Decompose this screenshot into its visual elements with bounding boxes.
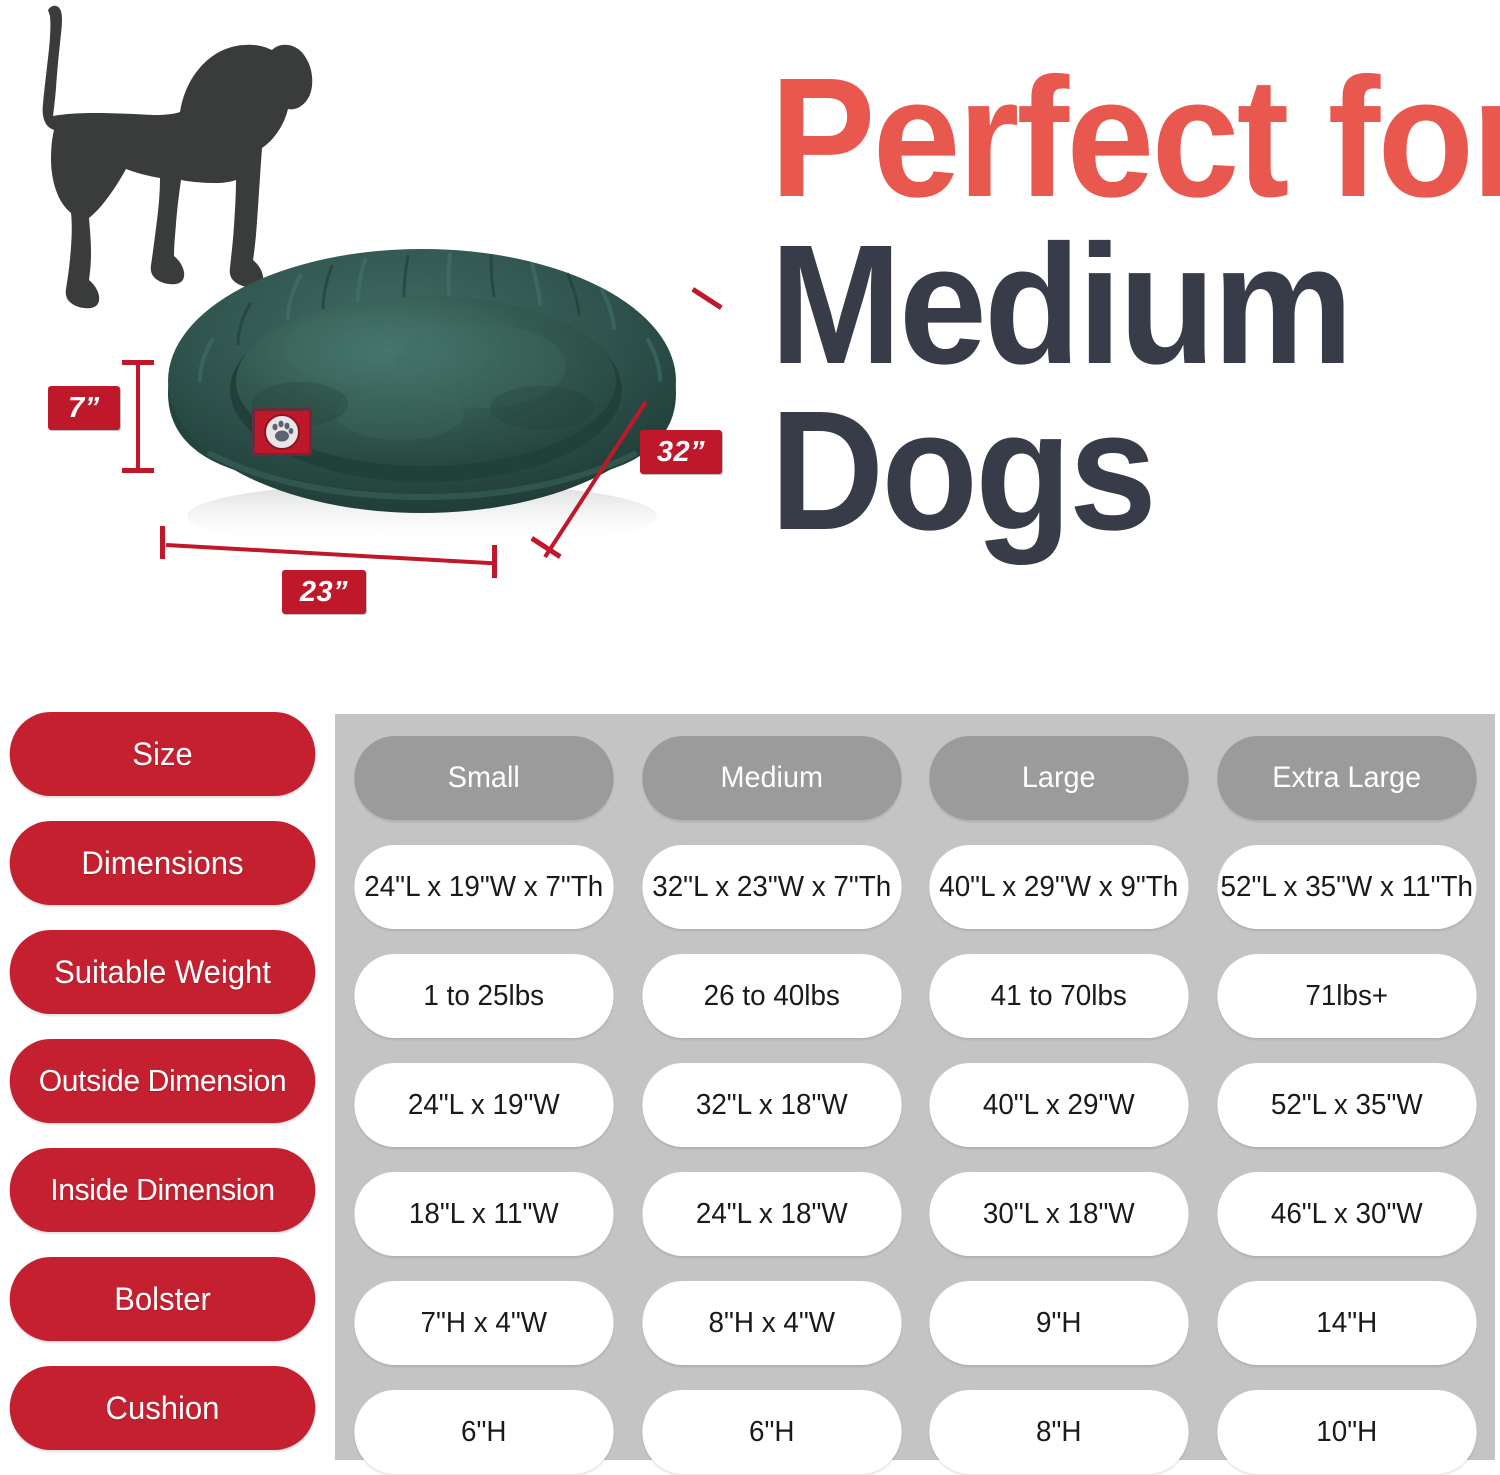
cell-inside-dimension-large: 30"L x 18"W — [929, 1172, 1188, 1256]
cell-bolster-small: 7"H x 4"W — [354, 1281, 613, 1365]
cell-cushion-extra-large: 10"H — [1217, 1390, 1476, 1474]
dimension-line-height — [136, 360, 140, 473]
value-panel: Small Medium Large Extra Large 24"L x 19… — [335, 714, 1495, 1460]
cell-bolster-large: 9"H — [929, 1281, 1188, 1365]
table-row: 18"L x 11"W 24"L x 18"W 30"L x 18"W 46"L… — [335, 1172, 1495, 1256]
column-header-small: Small — [354, 736, 613, 820]
callout-length: 32” — [640, 430, 722, 474]
headline: Perfect for Medium Dogs — [770, 55, 1490, 555]
cell-suitable-weight-extra-large: 71lbs+ — [1217, 954, 1476, 1038]
cell-outside-dimension-large: 40"L x 29"W — [929, 1063, 1188, 1147]
row-label-cushion: Cushion — [10, 1366, 316, 1450]
table-row: 24"L x 19"W 32"L x 18"W 40"L x 29"W 52"L… — [335, 1063, 1495, 1147]
column-header-large: Large — [929, 736, 1188, 820]
table-row: 1 to 25lbs 26 to 40lbs 41 to 70lbs 71lbs… — [335, 954, 1495, 1038]
row-label-suitable-weight: Suitable Weight — [10, 930, 316, 1014]
row-label-outside-dimension: Outside Dimension — [10, 1039, 316, 1123]
headline-line-1: Perfect for — [770, 55, 1440, 222]
brand-tag-icon — [252, 408, 312, 456]
cell-outside-dimension-extra-large: 52"L x 35"W — [1217, 1063, 1476, 1147]
cell-dimensions-extra-large: 52"L x 35"W x 11"Th — [1217, 845, 1476, 929]
callout-width: 23” — [282, 570, 366, 614]
cell-bolster-extra-large: 14"H — [1217, 1281, 1476, 1365]
cell-suitable-weight-small: 1 to 25lbs — [354, 954, 613, 1038]
callout-height: 7” — [48, 386, 120, 430]
dimension-cap-width-right — [492, 545, 497, 578]
table-header-row: Small Medium Large Extra Large — [335, 736, 1495, 820]
row-label-inside-dimension: Inside Dimension — [10, 1148, 316, 1232]
cell-suitable-weight-large: 41 to 70lbs — [929, 954, 1188, 1038]
table-row: 6"H 6"H 8"H 10"H — [335, 1390, 1495, 1474]
row-label-bolster: Bolster — [10, 1257, 316, 1341]
dimension-cap-height-bottom — [122, 468, 154, 473]
cell-dimensions-small: 24"L x 19"W x 7"Th — [354, 845, 613, 929]
hero-section: 7” 23” 32” Perfect for Medium Dogs — [0, 0, 1500, 700]
row-label-dimensions: Dimensions — [10, 821, 316, 905]
cell-suitable-weight-medium: 26 to 40lbs — [642, 954, 901, 1038]
cell-dimensions-large: 40"L x 29"W x 9"Th — [929, 845, 1188, 929]
dimension-cap-length-top — [691, 287, 722, 310]
headline-line-2: Medium — [770, 222, 1440, 389]
headline-line-3: Dogs — [770, 388, 1440, 555]
cell-cushion-large: 8"H — [929, 1390, 1188, 1474]
column-header-extra-large: Extra Large — [1217, 736, 1476, 820]
table-row: 24"L x 19"W x 7"Th 32"L x 23"W x 7"Th 40… — [335, 845, 1495, 929]
dimension-cap-width-left — [160, 526, 165, 559]
column-header-medium: Medium — [642, 736, 901, 820]
table-row: 7"H x 4"W 8"H x 4"W 9"H 14"H — [335, 1281, 1495, 1365]
dimension-cap-height-top — [122, 360, 154, 365]
row-label-column: Size Dimensions Suitable Weight Outside … — [5, 712, 320, 1475]
cell-inside-dimension-small: 18"L x 11"W — [354, 1172, 613, 1256]
cell-outside-dimension-medium: 32"L x 18"W — [642, 1063, 901, 1147]
cell-cushion-small: 6"H — [354, 1390, 613, 1474]
cell-dimensions-medium: 32"L x 23"W x 7"Th — [642, 845, 901, 929]
product-photo — [150, 218, 690, 558]
size-spec-table: Size Dimensions Suitable Weight Outside … — [0, 700, 1500, 1469]
cell-outside-dimension-small: 24"L x 19"W — [354, 1063, 613, 1147]
cell-inside-dimension-extra-large: 46"L x 30"W — [1217, 1172, 1476, 1256]
cell-cushion-medium: 6"H — [642, 1390, 901, 1474]
cell-inside-dimension-medium: 24"L x 18"W — [642, 1172, 901, 1256]
row-label-size: Size — [10, 712, 316, 796]
cell-bolster-medium: 8"H x 4"W — [642, 1281, 901, 1365]
